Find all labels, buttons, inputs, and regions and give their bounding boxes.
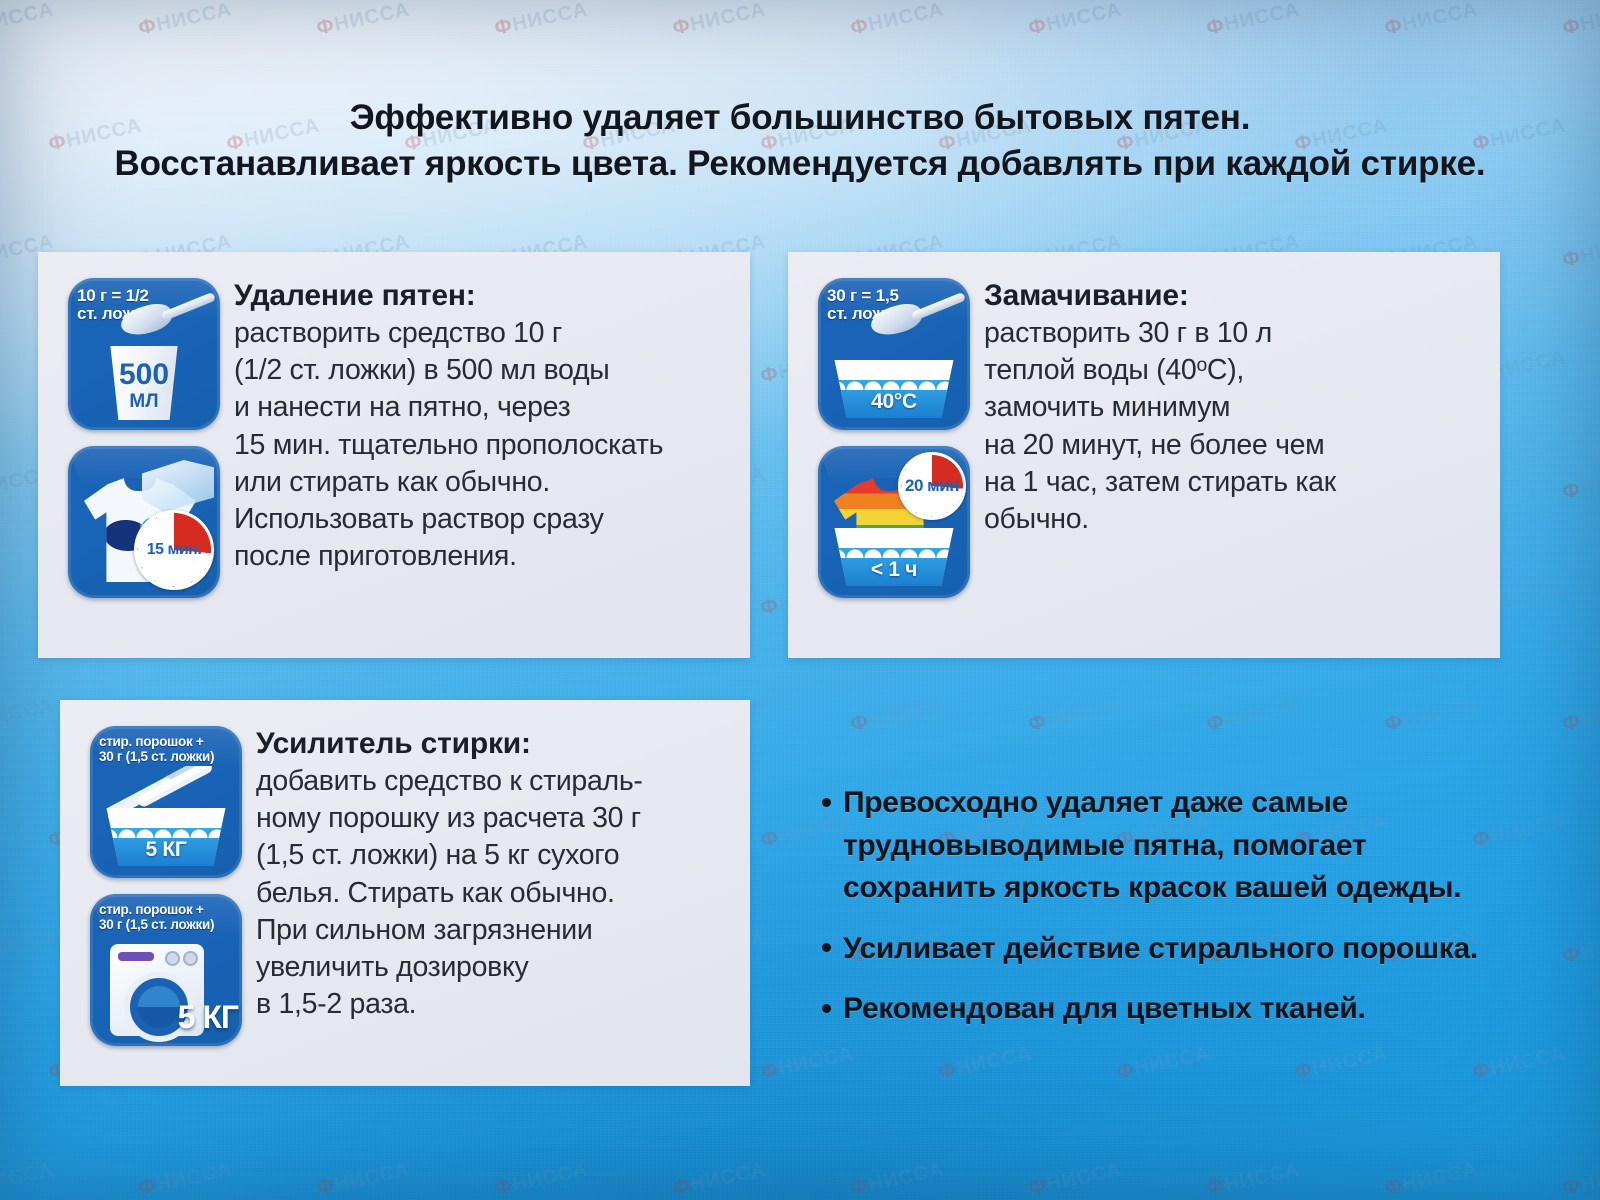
icon-caption-line-1: стир. порошок + (99, 902, 203, 917)
body-line: замочить минимум (984, 389, 1482, 426)
bullet-dot-icon (822, 798, 831, 807)
timer-label: 20 мин (901, 455, 963, 517)
list-item: Превосходно удаляет даже самые трудновыв… (822, 782, 1522, 910)
basin-label: 40°C (832, 390, 956, 414)
icon-column: стир. порошок + 30 г (1,5 ст. ложки) 5 К… (90, 726, 242, 1046)
panel-title: Замачивание: (984, 278, 1482, 313)
powder-machine-icon: стир. порошок + 30 г (1,5 ст. ложки) 5 К… (90, 894, 242, 1046)
bullet-dot-icon (822, 943, 831, 952)
icon-caption-line-2: 30 г (1,5 ст. ложки) (99, 749, 214, 764)
dose-cup-icon: 10 г = 1/2 ст. ложки 500 МЛ (68, 278, 220, 430)
machine-knob (183, 951, 198, 966)
load-weight-label: 5 КГ (178, 999, 238, 1036)
machine-control-panel (118, 952, 154, 961)
icon-caption: стир. порошок + 30 г (1,5 ст. ложки) (99, 903, 234, 932)
panel-soaking: 30 г = 1,5 ст. ложки 40°C (788, 252, 1500, 658)
basin-label: 5 КГ (104, 838, 228, 862)
timer-label: 15 мин. (137, 513, 211, 587)
icon-caption-line-1: 30 г = 1,5 (827, 286, 899, 305)
bullet-dot-icon (822, 1004, 831, 1013)
cup-volume-unit: МЛ (104, 392, 184, 411)
basin-icon: 40°C (832, 360, 956, 418)
body-line: добавить средство к стираль- (256, 763, 732, 800)
body-line: на 1 час, затем стирать как (984, 464, 1482, 501)
body-line: растворить 30 г в 10 л (984, 315, 1482, 352)
body-line: (1/2 ст. ложки) в 500 мл воды (234, 352, 732, 389)
panel-body: растворить 30 г в 10 л теплой воды (40оС… (984, 315, 1482, 537)
temp-after: С), (1207, 354, 1244, 386)
body-line: и нанести на пятно, через (234, 389, 732, 426)
benefits-list: Превосходно удаляет даже самые трудновыв… (822, 782, 1522, 1049)
cup-label: 500 МЛ (104, 360, 184, 411)
icon-caption-line-1: 10 г = 1/2 (77, 286, 149, 305)
panel-body: добавить средство к стираль- ному порошк… (256, 763, 732, 1022)
body-line: 15 мин. тщательно прополоскать (234, 427, 732, 464)
shirt-stain-timer-icon: 15 мин. (68, 446, 220, 598)
bullet-text: Усиливает действие стирального порошка. (843, 928, 1522, 971)
body-line: на 20 минут, не более чем (984, 427, 1482, 464)
degree-superscript: о (1196, 354, 1206, 376)
bullet-text: Превосходно удаляет даже самые трудновыв… (843, 782, 1522, 910)
page-title: Эффективно удаляет большинство бытовых п… (0, 95, 1600, 186)
body-line: белья. Стирать как обычно. (256, 875, 732, 912)
machine-knob (165, 951, 180, 966)
body-line-temperature: теплой воды (40оС), (984, 352, 1482, 389)
body-line: растворить средство 10 г (234, 315, 732, 352)
timer-20-min-icon: 20 мин (898, 452, 966, 520)
headline-line-1: Эффективно удаляет большинство бытовых п… (0, 95, 1600, 141)
cup-volume-value: 500 (104, 360, 184, 390)
basin-label: < 1 ч (832, 558, 956, 582)
body-line: ному порошку из расчета 30 г (256, 800, 732, 837)
list-item: Рекомендован для цветных тканей. (822, 988, 1522, 1031)
headline-line-2: Восстанавливает яркость цвета. Рекоменду… (0, 141, 1600, 187)
basin-icon: 5 КГ (104, 808, 228, 866)
basin-wave (828, 544, 960, 558)
text-column: Усилитель стирки: добавить средство к ст… (256, 726, 732, 1046)
icon-column: 10 г = 1/2 ст. ложки 500 МЛ (68, 278, 220, 598)
body-line: (1,5 ст. ложки) на 5 кг сухого (256, 837, 732, 874)
panel-body: растворить средство 10 г (1/2 ст. ложки)… (234, 315, 732, 574)
text-column: Удаление пятен: растворить средство 10 г… (234, 278, 732, 598)
basin-wave (828, 376, 960, 390)
list-item: Усиливает действие стирального порошка. (822, 928, 1522, 971)
soak-rainbow-shirt-icon: < 1 ч 20 мин (818, 446, 970, 598)
panel-stain-removal: 10 г = 1/2 ст. ложки 500 МЛ (38, 252, 750, 658)
measuring-cup-icon: 500 МЛ (104, 346, 184, 420)
body-line: увеличить дозировку (256, 949, 732, 986)
panel-title: Усилитель стирки: (256, 726, 732, 761)
basin-icon: < 1 ч (832, 528, 956, 586)
bullet-text: Рекомендован для цветных тканей. (843, 988, 1522, 1031)
temp-before: теплой воды (40 (984, 354, 1196, 386)
icon-caption: стир. порошок + 30 г (1,5 ст. ложки) (99, 735, 234, 764)
timer-15-min-icon: 15 мин. (134, 510, 214, 590)
body-line: или стирать как обычно. (234, 464, 732, 501)
body-line: При сильном загрязнении (256, 912, 732, 949)
body-line: после приготовления. (234, 538, 732, 575)
panel-wash-booster: стир. порошок + 30 г (1,5 ст. ложки) 5 К… (60, 700, 750, 1086)
icon-caption-line-2: 30 г (1,5 ст. ложки) (99, 917, 214, 932)
powder-basin-icon: стир. порошок + 30 г (1,5 ст. ложки) 5 К… (90, 726, 242, 878)
body-line: Использовать раствор сразу (234, 501, 732, 538)
icon-caption-line-1: стир. порошок + (99, 734, 203, 749)
dose-basin-icon: 30 г = 1,5 ст. ложки 40°C (818, 278, 970, 430)
body-line: в 1,5-2 раза. (256, 986, 732, 1023)
panel-title: Удаление пятен: (234, 278, 732, 313)
body-line: обычно. (984, 501, 1482, 538)
text-column: Замачивание: растворить 30 г в 10 л тепл… (984, 278, 1482, 598)
basin-wave (100, 824, 232, 838)
icon-column: 30 г = 1,5 ст. ложки 40°C (818, 278, 970, 598)
